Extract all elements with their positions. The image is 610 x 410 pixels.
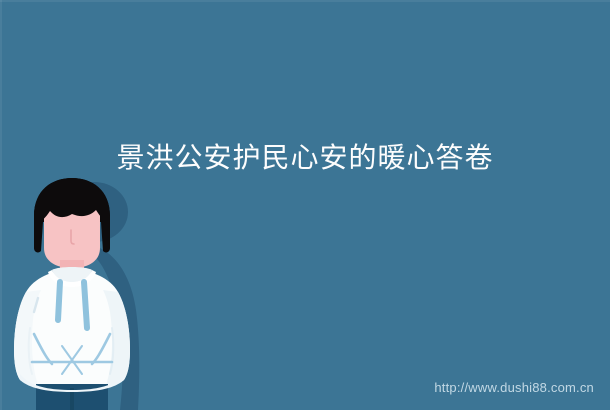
poster-canvas: 景洪公安护民心安的暖心答卷 http://www.dushi88.com.cn <box>0 0 610 410</box>
illustration-young-man <box>8 178 168 410</box>
navy-pants <box>36 384 108 410</box>
watermark-url: http://www.dushi88.com.cn <box>434 380 594 396</box>
page-title: 景洪公安护民心安的暖心答卷 <box>0 136 610 180</box>
white-hoodie <box>14 267 130 390</box>
